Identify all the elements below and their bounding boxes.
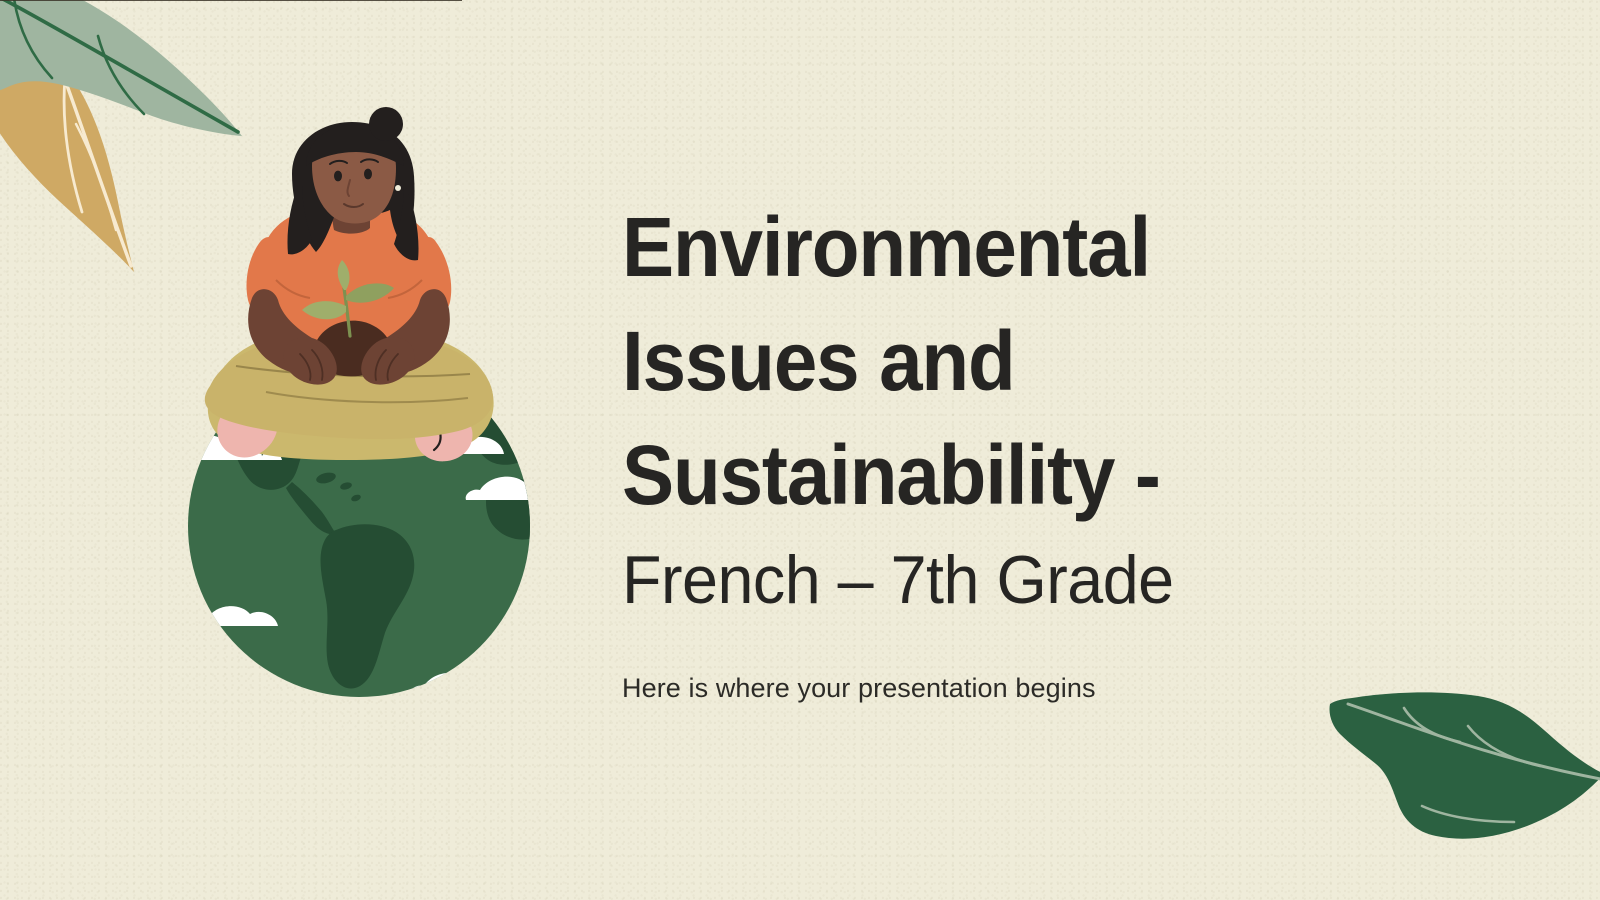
presentation-slide: Environmental Issues and Sustainability … [0,0,1600,900]
title-line-1: Environmental [622,190,1366,304]
title-line-3: Sustainability - [622,418,1366,532]
title-line-2: Issues and [622,304,1366,418]
dark-green-leaf-icon [1318,690,1600,860]
person-figure [205,107,493,469]
page-tagline: Here is where your presentation begins [622,670,1422,706]
page-title: Environmental Issues and Sustainability … [622,190,1422,532]
slide-text-block: Environmental Issues and Sustainability … [622,190,1422,706]
hero-illustration [140,130,560,710]
page-subtitle: French – 7th Grade [622,534,1382,626]
divider-rule [0,0,462,1]
hair-bun [369,107,403,141]
leaf-decoration-bottom-right [1318,690,1600,860]
